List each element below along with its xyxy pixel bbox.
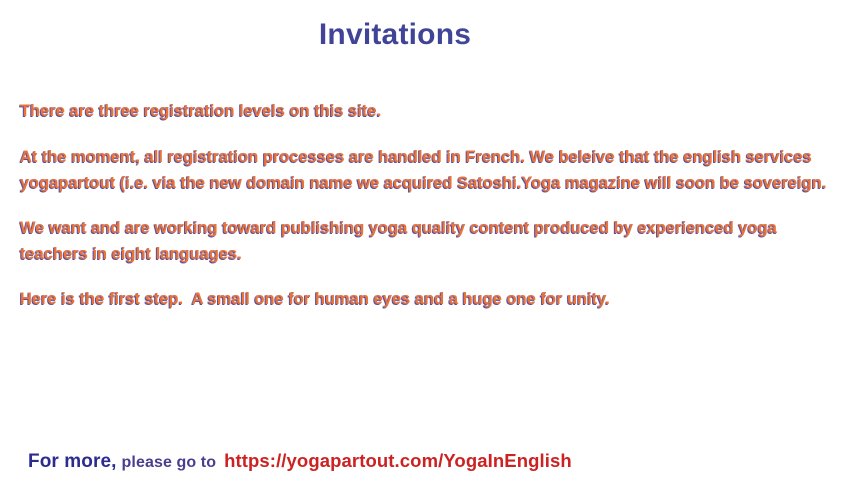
paragraph-french-registration: At the moment, all registration processe… <box>20 144 840 196</box>
footer-lead-text: For more, <box>28 451 117 473</box>
footer-url-link[interactable]: https://yogapartout.com/YogaInEnglish <box>224 450 572 472</box>
body-content: There are three registration levels on t… <box>20 98 840 312</box>
footer-middle-text: please go to <box>122 454 217 472</box>
page-title: Invitations <box>0 18 790 52</box>
paragraph-registration-levels: There are three registration levels on t… <box>20 98 840 124</box>
paragraph-first-step: Here is the first step. A small one for … <box>20 286 840 312</box>
paragraph-eight-languages: We want and are working toward publishin… <box>20 215 840 267</box>
slide-canvas: Invitations There are three registration… <box>0 0 850 500</box>
footer: For more, please go to https://yogaparto… <box>28 450 572 473</box>
